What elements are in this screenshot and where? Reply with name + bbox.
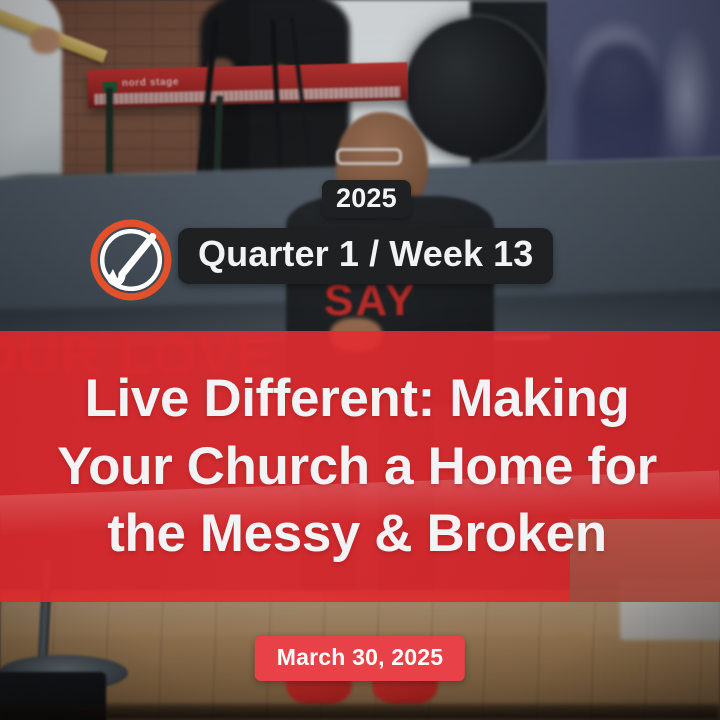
floor-bottom-shadow [0,704,720,720]
year-badge: 2025 [322,180,411,218]
title-line-3: the Messy & Broken [0,500,720,568]
date-badge: March 30, 2025 [255,636,465,681]
keyboard-brand-label: nord stage [122,77,179,89]
preacher-glasses [336,148,402,165]
title-card: nord stage OUR LOVE SAY [0,0,720,720]
title-banner: Live Different: Making Your Church a Hom… [0,331,720,602]
title-line-1: Live Different: Making [0,365,720,433]
bass-drum [405,18,545,158]
keyboard: nord stage [88,62,409,108]
series-badge: Quarter 1 / Week 13 [178,228,553,284]
floor-sheen [0,598,720,638]
church-logo [86,215,176,305]
title-text-block: Live Different: Making Your Church a Hom… [0,365,720,568]
guitarist-hand [30,28,60,54]
title-line-2: Your Church a Home for [0,433,720,501]
